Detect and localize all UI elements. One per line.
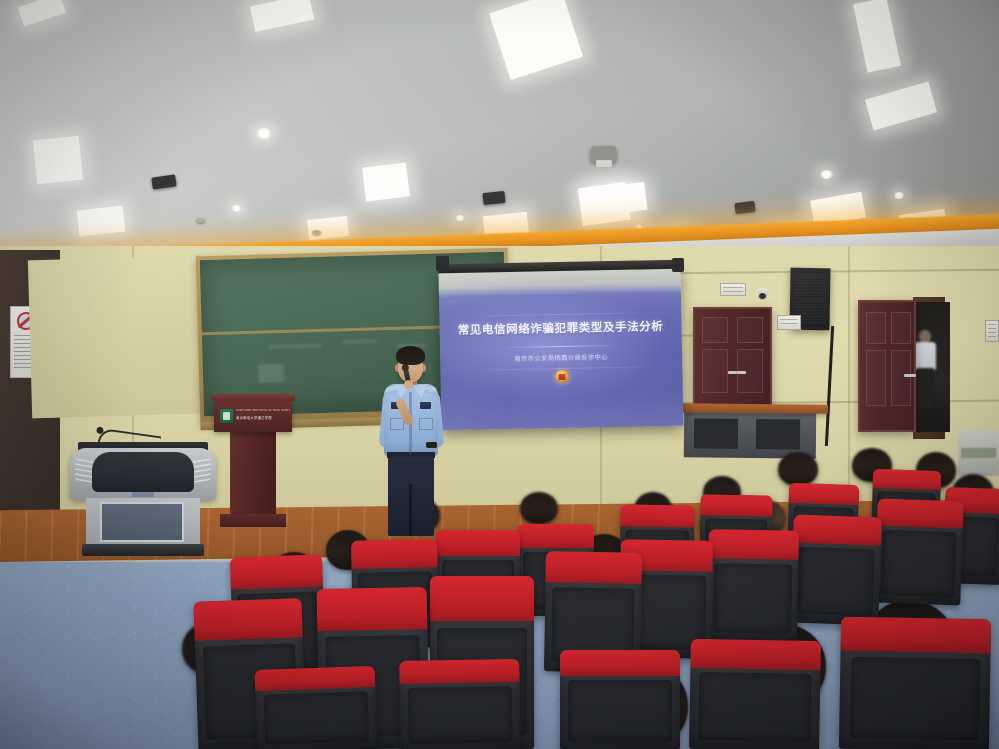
seat-headrest <box>789 483 860 505</box>
smoke-detector-icon <box>196 218 205 223</box>
podium-desk-lip <box>211 394 295 401</box>
right-side-cabinet <box>958 430 999 476</box>
auditorium-seat[interactable] <box>689 639 821 749</box>
chalk-mark <box>269 344 321 348</box>
seat-headrest <box>877 499 964 529</box>
person-shirt <box>914 342 936 370</box>
door-handle-icon[interactable] <box>728 371 737 374</box>
auditorium-seat[interactable] <box>839 617 991 749</box>
seat-headrest <box>560 650 680 676</box>
rear-table-top <box>682 403 828 414</box>
audience-head <box>778 452 818 486</box>
door-panel <box>866 350 886 406</box>
plaque-text-lines <box>780 319 798 326</box>
officer-pocket <box>390 418 404 430</box>
seat-headrest <box>873 469 942 490</box>
person-skirt <box>916 368 934 408</box>
speaker-podium: PORTLAND INSTITUTE OF TECH NJUPT 南京邮电大学通… <box>214 398 292 530</box>
seat-headrest <box>193 598 302 641</box>
auditorium-seat[interactable] <box>399 659 521 749</box>
lectern-base <box>82 544 204 556</box>
plaque-text-lines <box>988 324 996 338</box>
door-panel <box>891 312 911 344</box>
wall-plaque <box>777 315 801 330</box>
auditorium-seat[interactable] <box>874 499 964 606</box>
ceiling-downlight <box>455 215 465 221</box>
officer-badge-patch <box>420 402 431 409</box>
wall-plaque <box>985 320 999 342</box>
ceiling-panel-light <box>77 206 125 237</box>
seat-back-panel <box>713 563 792 634</box>
seat-back-panel <box>408 686 512 744</box>
institute-emblem-icon <box>220 409 233 423</box>
seat-back-panel <box>568 680 671 742</box>
auditorium-seat[interactable] <box>255 666 378 749</box>
seat-headrest <box>620 504 694 527</box>
ceiling-panel-light <box>362 162 410 201</box>
police-badge-icon <box>555 370 568 383</box>
lectern-brand-label <box>132 492 154 497</box>
seat-headrest <box>841 617 992 654</box>
projection-screen: 常见电信网络诈骗犯罪类型及手法分析 南京市公安局栖霞分局反诈中心 <box>439 268 684 431</box>
ceiling-projector <box>591 146 616 162</box>
presenter-police-officer <box>378 340 444 540</box>
sliding-board-panel[interactable] <box>28 256 204 419</box>
chalk-mark <box>257 364 283 383</box>
door-panel <box>866 312 886 344</box>
ceiling-downlight <box>231 205 242 212</box>
seat-headrest <box>546 551 643 584</box>
door-handle-icon[interactable] <box>904 374 916 377</box>
smoke-detector-icon <box>312 230 321 235</box>
seat-back-panel <box>797 547 875 617</box>
seat-headrest <box>255 666 376 691</box>
seat-back-panel <box>264 691 369 745</box>
dome-security-camera-icon <box>757 288 768 300</box>
rear-door-closed[interactable] <box>693 307 772 408</box>
ceiling-panel-light <box>307 216 349 240</box>
screen-bracket-right <box>672 258 684 272</box>
podium-institute-cn: 南京邮电大学通达学院 <box>236 415 289 420</box>
ceiling-downlight <box>820 170 833 179</box>
door-panel <box>702 317 728 343</box>
ceiling-panel-light <box>33 136 83 185</box>
seat-headrest <box>690 639 820 670</box>
auditorium-seat[interactable] <box>790 514 882 625</box>
ceiling-downlight <box>894 192 904 199</box>
screen-bracket-left <box>436 256 449 271</box>
ceiling-downlight <box>255 128 273 139</box>
door-panel <box>702 349 728 393</box>
wall-plaque <box>720 283 746 296</box>
lectern-vent <box>191 458 211 484</box>
podium-institute-en: PORTLAND INSTITUTE OF TECH NJUPT <box>236 409 289 412</box>
door-handle-icon[interactable] <box>737 371 746 374</box>
seat-headrest <box>317 587 428 631</box>
door-panel <box>891 350 911 406</box>
door-panel <box>737 317 763 343</box>
multimedia-lectern[interactable] <box>70 420 216 555</box>
seat-headrest <box>700 494 772 516</box>
auditorium-seat[interactable] <box>560 650 680 749</box>
officer-wristwatch-icon <box>426 442 437 448</box>
seat-headrest <box>518 524 594 548</box>
rear-door-open[interactable] <box>858 300 916 432</box>
chalk-mark <box>342 340 376 344</box>
seat-headrest <box>793 514 882 545</box>
podium-column <box>230 432 276 516</box>
officer-hand <box>404 380 413 389</box>
seat-back-panel <box>698 672 811 742</box>
plaque-text-lines <box>723 287 743 292</box>
auditorium-seat[interactable] <box>707 529 799 643</box>
seat-headrest <box>430 576 534 621</box>
lecture-hall-photo: 常见电信网络诈骗犯罪类型及手法分析 南京市公安局栖霞分局反诈中心 <box>0 0 999 749</box>
seat-headrest <box>708 529 798 560</box>
ceiling-speaker-icon <box>482 191 505 205</box>
seat-back-panel <box>850 656 980 740</box>
seat-headrest <box>230 554 323 589</box>
seat-back-panel <box>881 530 957 597</box>
officer-trousers <box>388 456 434 536</box>
podium-base <box>220 514 286 527</box>
seat-headrest <box>436 530 520 556</box>
officer-hair <box>396 346 425 365</box>
lectern-monitor <box>92 452 194 492</box>
seat-headrest <box>351 539 437 569</box>
audience-head <box>520 492 558 524</box>
lectern-inner-screen[interactable] <box>100 502 184 542</box>
officer-pocket <box>419 418 433 430</box>
seat-headrest <box>399 659 519 684</box>
podium-desk: PORTLAND INSTITUTE OF TECH NJUPT 南京邮电大学通… <box>214 398 292 432</box>
wall-seam <box>848 246 850 506</box>
